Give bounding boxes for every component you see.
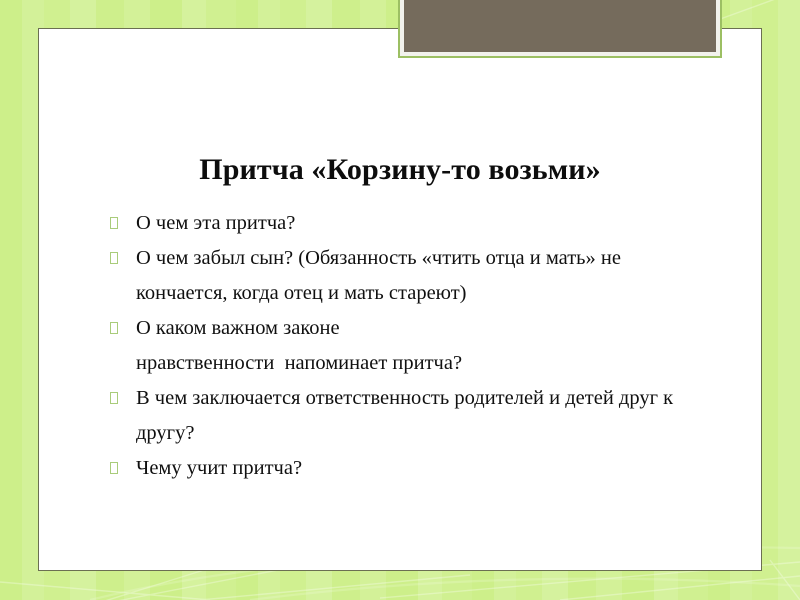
list-item-label: В чем заключается ответственность родите… — [136, 381, 704, 451]
list-item-label: О чем забыл сын? (Обязанность «чтить отц… — [136, 241, 704, 311]
presentation-slide: Притча «Корзину-то возьми» О чем эта при… — [0, 0, 800, 600]
slide-title: Притча «Корзину-то возьми» — [58, 152, 742, 188]
list-item-label: О каком важном законе нравственности нап… — [136, 311, 704, 381]
hollow-square-bullet-icon — [110, 392, 118, 404]
header-decoration-block — [398, 0, 722, 58]
hollow-square-bullet-icon — [110, 322, 118, 334]
question-list: О чем эта притча? О чем забыл сын? (Обяз… — [104, 206, 704, 486]
list-item: О чем эта притча? — [104, 206, 704, 241]
header-decoration-fill — [404, 0, 716, 52]
list-item: О каком важном законе нравственности нап… — [104, 311, 704, 381]
hollow-square-bullet-icon — [110, 217, 118, 229]
list-item: О чем забыл сын? (Обязанность «чтить отц… — [104, 241, 704, 311]
hollow-square-bullet-icon — [110, 462, 118, 474]
hollow-square-bullet-icon — [110, 252, 118, 264]
list-item-label: О чем эта притча? — [136, 206, 704, 241]
list-item-label: Чему учит притча? — [136, 451, 704, 486]
list-item: Чему учит притча? — [104, 451, 704, 486]
list-item: В чем заключается ответственность родите… — [104, 381, 704, 451]
